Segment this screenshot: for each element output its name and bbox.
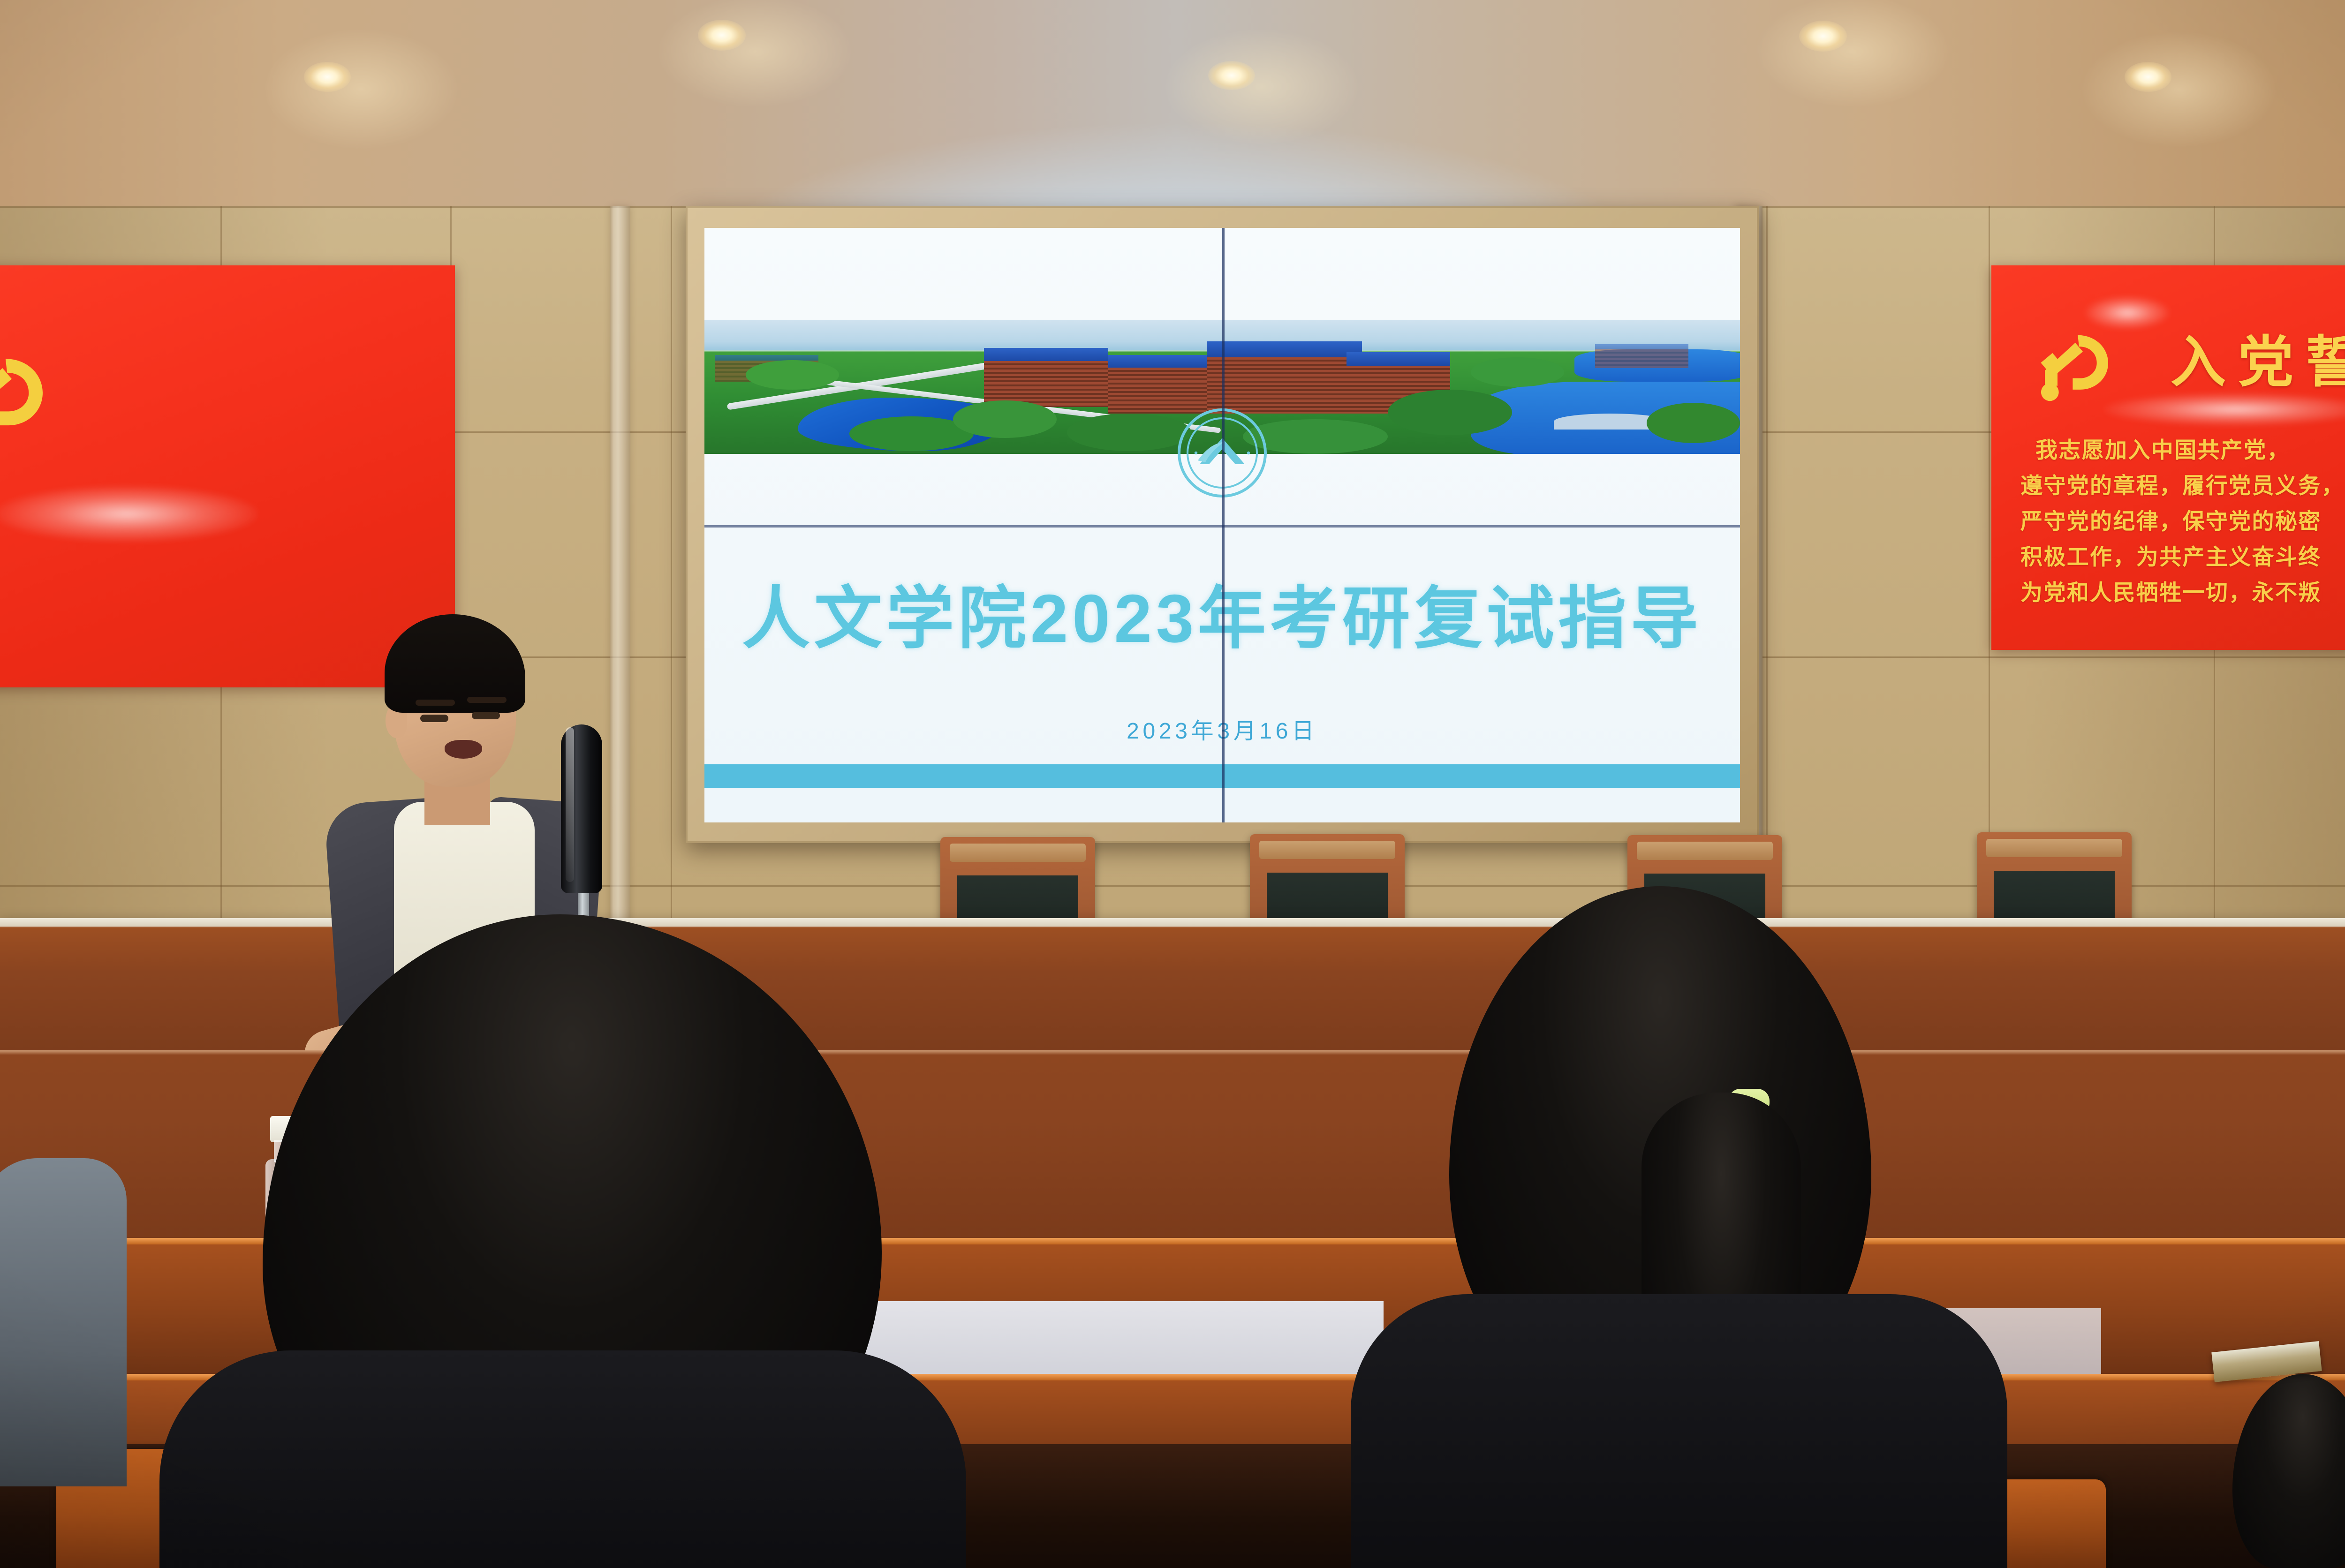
banner-glare	[0, 486, 258, 542]
oath-line: 我志愿加入中国共产党，	[2035, 432, 2290, 468]
campus-tree	[1647, 403, 1740, 443]
downlight-icon	[1208, 61, 1255, 90]
audience-hair	[2232, 1374, 2345, 1568]
downlight-icon	[698, 20, 746, 51]
audience-person-far-right	[2232, 1374, 2345, 1568]
video-wall[interactable]: 人文学院2023年考研复试指导 2023年3月16日	[704, 228, 1740, 822]
campus-tree	[1067, 414, 1191, 451]
conference-room-photo: 入党誓 我志愿加入中国共产党， 遵守党的章程，履行党员义务， 严守党的纪律，保守…	[0, 0, 2345, 1568]
campus-building	[1108, 355, 1212, 414]
display-frame: 人文学院2023年考研复试指导 2023年3月16日	[686, 206, 1759, 843]
speaker-eyebrow	[467, 697, 507, 703]
party-banner-right: 入党誓 我志愿加入中国共产党， 遵守党的章程，履行党员义务， 严守党的纪律，保守…	[1991, 265, 2345, 650]
audience-shoulders-left	[159, 1350, 966, 1568]
campus-tree	[953, 400, 1057, 438]
speaker-eye	[420, 715, 448, 722]
downlight-glow	[1754, 0, 1951, 108]
oath-line: 积极工作，为共产主义奋斗终	[2020, 539, 2322, 575]
downlight-glow	[263, 28, 460, 150]
downlight-glow	[657, 0, 854, 108]
downlight-icon	[2125, 62, 2171, 92]
downlight-icon	[304, 62, 351, 92]
ceiling	[0, 0, 2345, 220]
speaker-eyebrow	[416, 700, 455, 706]
audience-shoulders-right	[1351, 1294, 2007, 1568]
oath-line: 严守党的纪律，保守党的秘密	[2020, 504, 2322, 539]
downlight-icon	[1799, 21, 1847, 52]
video-wall-seam	[704, 525, 1740, 528]
oath-line: 为党和人民牺牲一切，永不叛	[2020, 575, 2322, 611]
campus-building	[1207, 341, 1362, 414]
campus-building	[1595, 344, 1688, 368]
microphone-icon[interactable]	[561, 724, 602, 893]
campus-tree	[1388, 390, 1512, 435]
cpc-emblem-icon	[0, 322, 89, 476]
banner-title: 入党誓	[2171, 335, 2345, 390]
campus-tree	[746, 360, 839, 390]
presentation-slide: 人文学院2023年考研复试指导 2023年3月16日	[704, 228, 1740, 822]
downlight-glow	[1163, 28, 1360, 145]
oath-line: 遵守党的章程，履行党员义务，	[2020, 468, 2345, 504]
downlight-glow	[2080, 31, 2277, 148]
audience-person-far-left	[0, 1158, 127, 1486]
campus-tree	[1471, 357, 1564, 387]
speaker-mouth	[445, 740, 482, 759]
speaker-eye	[472, 712, 500, 719]
campus-building	[984, 348, 1108, 407]
banner-glare	[2085, 296, 2170, 329]
